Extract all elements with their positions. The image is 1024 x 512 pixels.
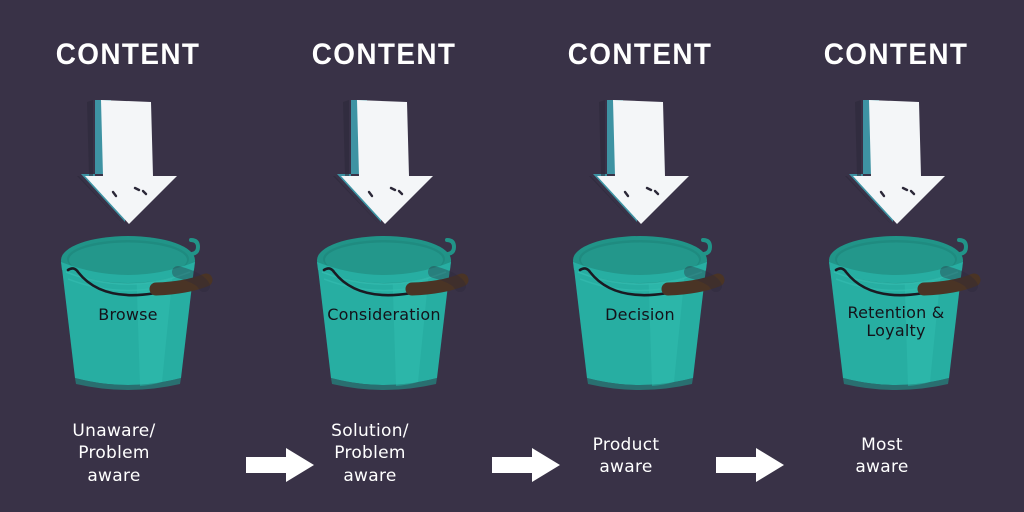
right-arrow-icon	[490, 446, 562, 484]
caption-line: aware	[14, 465, 214, 487]
right-arrow-icon	[714, 446, 786, 484]
bucket-label-line: Browse	[98, 305, 157, 324]
caption-line: Solution/	[270, 420, 470, 442]
bucket-label: Retention & Loyalty	[768, 304, 1024, 340]
caption-line: aware	[782, 456, 982, 478]
down-arrow-icon	[256, 96, 512, 226]
stage-caption: Most aware	[782, 434, 982, 479]
funnel-stage-1: CONTENT	[0, 0, 256, 512]
bucket-label: Consideration	[256, 306, 512, 324]
funnel-stage-4: CONTENT	[768, 0, 1024, 512]
bucket-label-line: Consideration	[327, 305, 441, 324]
bucket-label-line: Decision	[605, 305, 675, 324]
content-heading: CONTENT	[9, 40, 247, 70]
infographic-canvas: CONTENT	[0, 0, 1024, 512]
right-arrow-icon	[244, 446, 316, 484]
bucket-label-line: Loyalty	[768, 322, 1024, 340]
down-arrow-icon	[768, 96, 1024, 226]
bucket-label-line: Retention &	[768, 304, 1024, 322]
stage-caption: Unaware/ Problem aware	[14, 420, 214, 487]
content-heading: CONTENT	[777, 40, 1015, 70]
caption-line: Most	[782, 434, 982, 456]
bucket-label: Decision	[512, 306, 768, 324]
content-heading: CONTENT	[265, 40, 503, 70]
funnel-stage-3: CONTENT	[512, 0, 768, 512]
funnel-stage-2: CONTENT	[256, 0, 512, 512]
caption-line: Problem	[14, 442, 214, 464]
content-heading: CONTENT	[521, 40, 759, 70]
down-arrow-icon	[0, 96, 256, 226]
bucket-label: Browse	[0, 306, 256, 324]
caption-line: Unaware/	[14, 420, 214, 442]
down-arrow-icon	[512, 96, 768, 226]
